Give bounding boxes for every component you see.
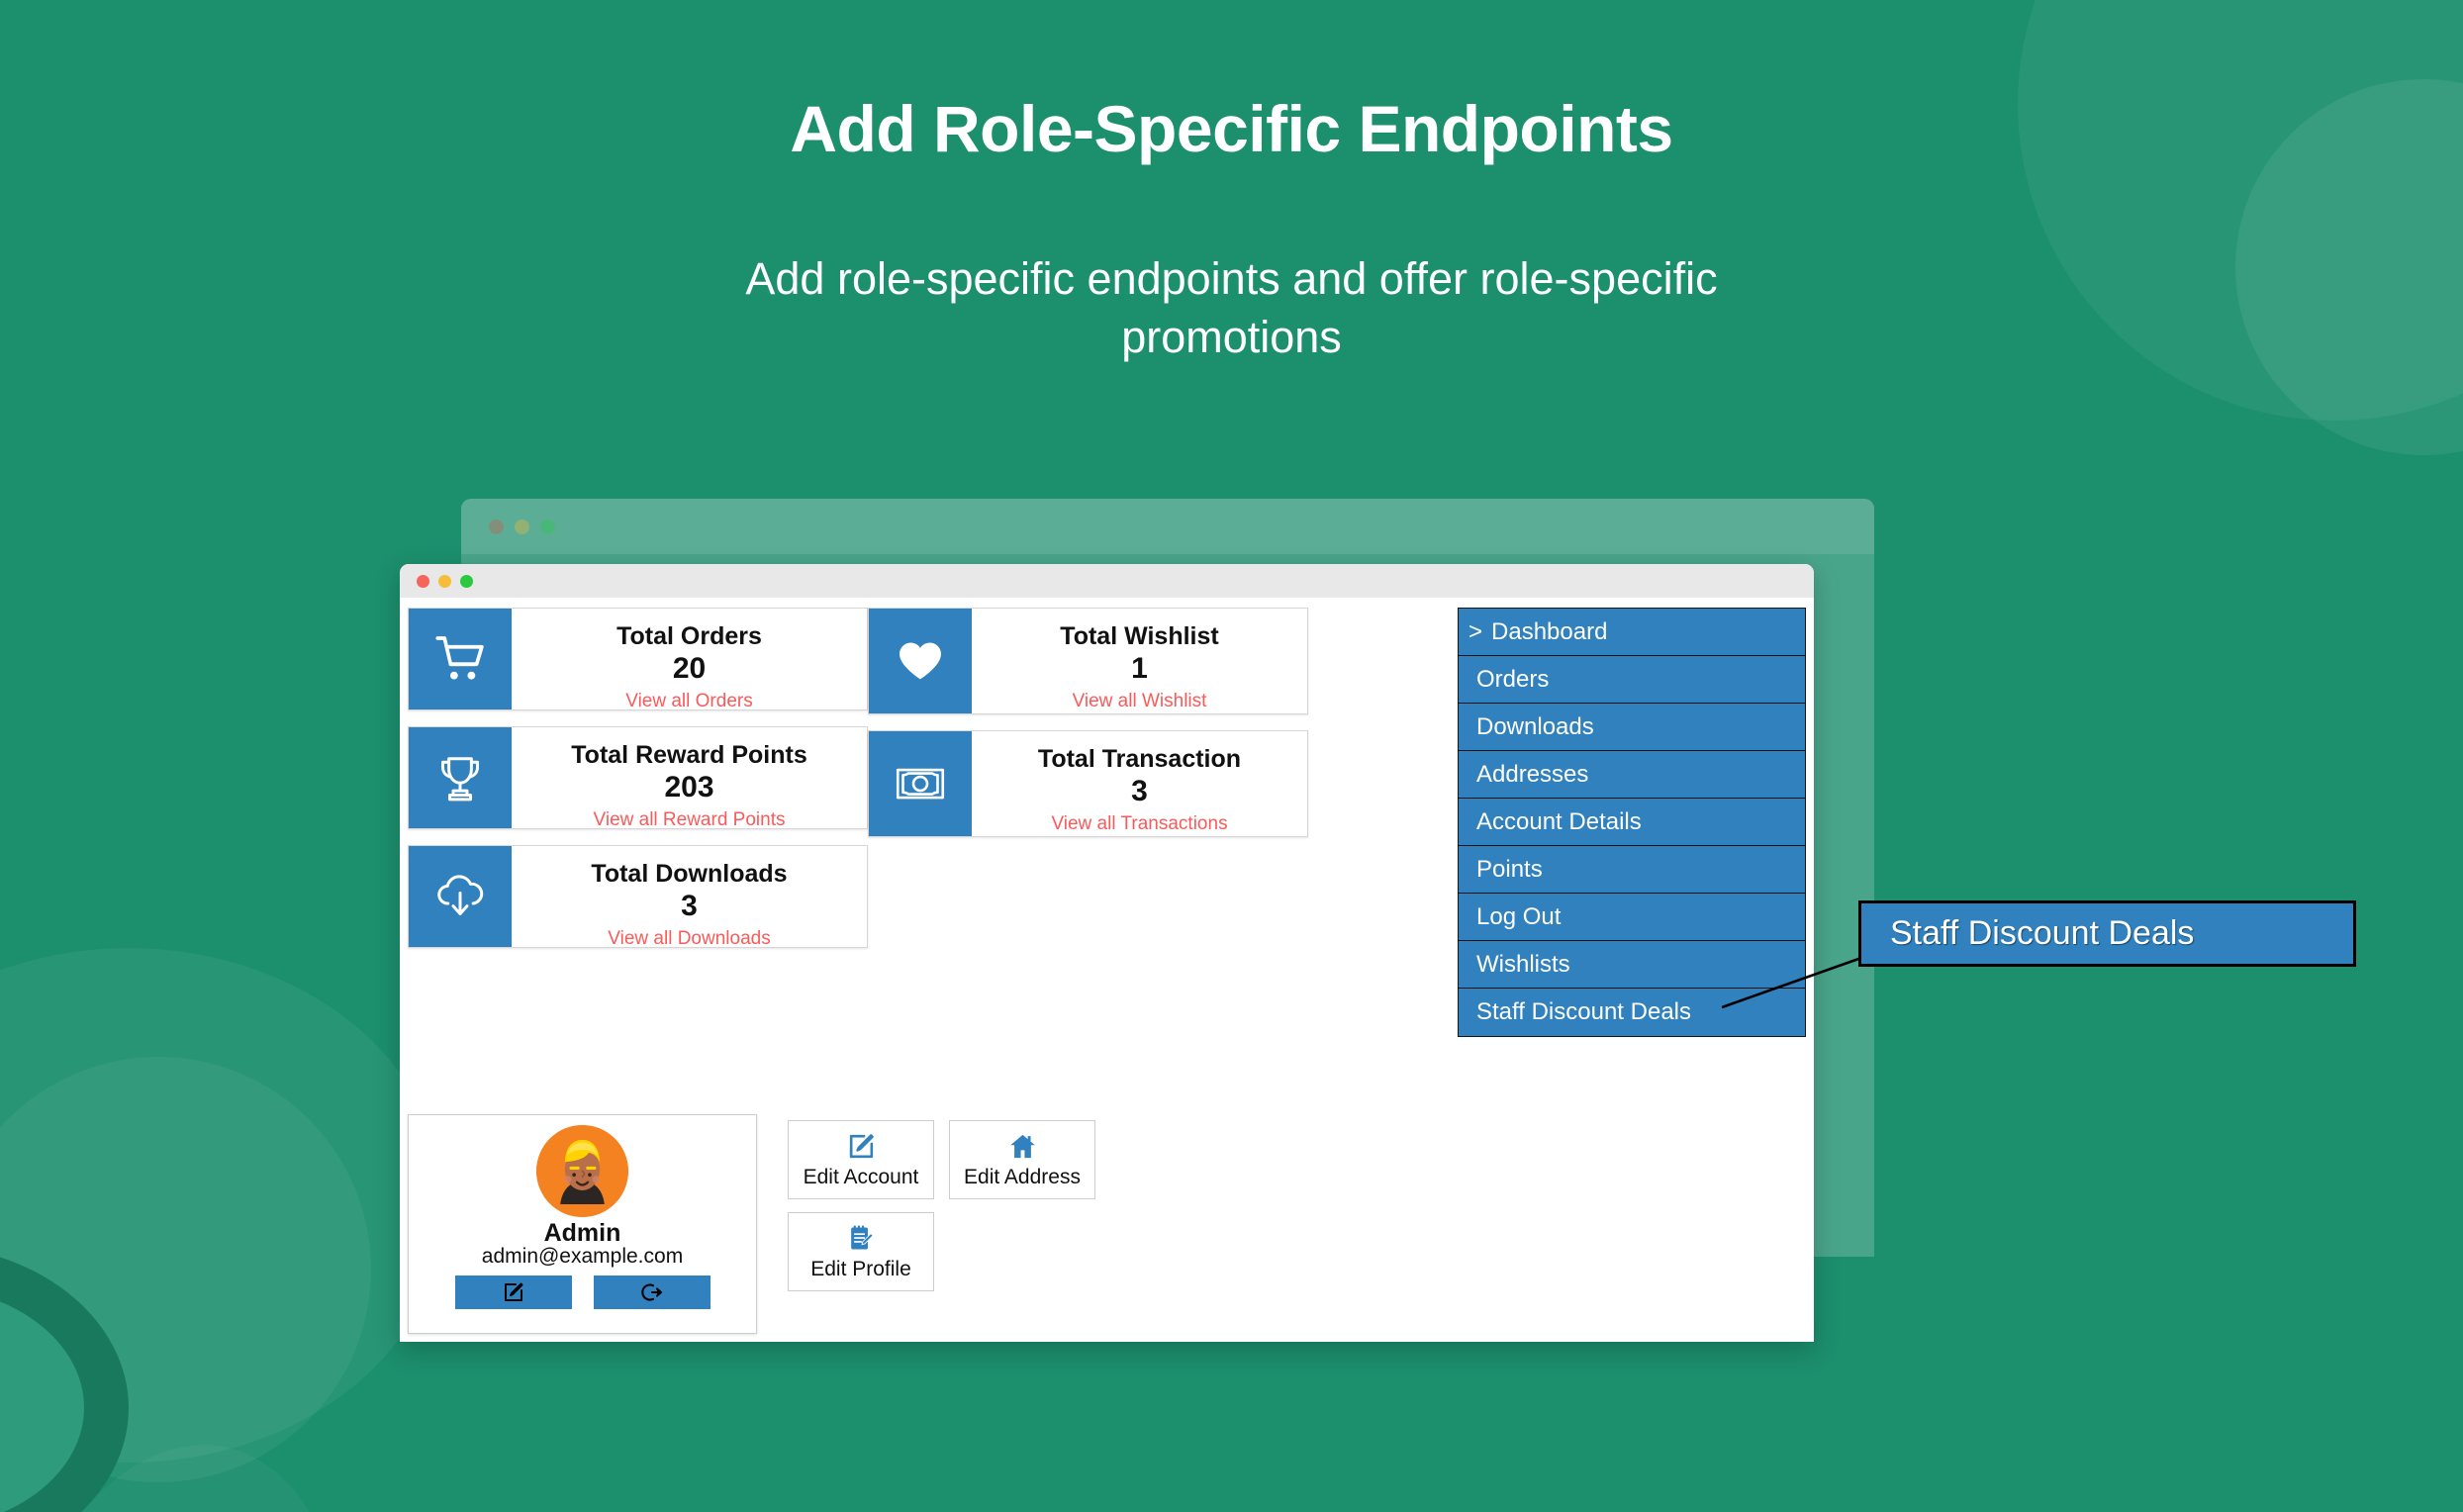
ghost-titlebar — [461, 499, 1874, 554]
stat-value: 203 — [520, 770, 859, 806]
decorative-ring-outer — [0, 1245, 129, 1512]
edit-pencil-icon — [502, 1280, 525, 1304]
stat-title: Total Downloads — [520, 860, 859, 889]
heart-icon — [869, 609, 972, 713]
sidebar-item-downloads[interactable]: Downloads — [1459, 704, 1805, 751]
callout-staff-discount-deals: Staff Discount Deals — [1858, 900, 2356, 967]
sidebar-item-account-details[interactable]: Account Details — [1459, 799, 1805, 846]
sidebar-item-label: Dashboard — [1491, 618, 1607, 646]
decorative-circle-top-right-large — [2018, 0, 2463, 421]
stat-value: 3 — [520, 889, 859, 925]
user-profile-card: Admin admin@example.com — [408, 1114, 757, 1334]
sidebar-item-label: Downloads — [1476, 713, 1594, 741]
page-subtitle: Add role-specific endpoints and offer ro… — [648, 249, 1816, 367]
stat-card-meta: Total Downloads 3 View all Downloads — [512, 846, 867, 947]
profile-buttons — [409, 1276, 756, 1309]
sidebar-item-label: Points — [1476, 856, 1543, 884]
stat-link-view-all-transactions[interactable]: View all Transactions — [1051, 813, 1227, 835]
avatar — [536, 1125, 628, 1217]
edit-account-button[interactable]: Edit Account — [788, 1120, 934, 1199]
cloud-download-icon — [409, 846, 512, 947]
stat-link-view-all-orders[interactable]: View all Orders — [625, 691, 752, 712]
stats-column-left: Total Orders 20 View all Orders — [408, 608, 868, 964]
sidebar-item-addresses[interactable]: Addresses — [1459, 751, 1805, 799]
page-title: Add Role-Specific Endpoints — [0, 91, 2463, 166]
stat-value: 3 — [980, 774, 1299, 810]
stat-link-view-all-wishlist[interactable]: View all Wishlist — [1073, 691, 1207, 712]
ghost-maximize-dot — [540, 520, 555, 534]
account-action-tiles: Edit Account Edit Address — [788, 1120, 1203, 1304]
logout-arrow-icon — [640, 1280, 664, 1304]
sidebar-item-log-out[interactable]: Log Out — [1459, 894, 1805, 941]
minimize-window-dot[interactable] — [438, 575, 451, 588]
close-window-dot[interactable] — [417, 575, 429, 588]
dashboard-body: Total Orders 20 View all Orders — [400, 598, 1814, 1342]
sidebar-item-label: Orders — [1476, 666, 1549, 694]
stat-card-total-transaction[interactable]: Total Transaction 3 View all Transaction… — [868, 730, 1308, 837]
stat-value: 1 — [980, 651, 1299, 688]
stat-value: 20 — [520, 651, 859, 688]
edit-profile-button[interactable] — [455, 1276, 572, 1309]
stat-card-total-downloads[interactable]: Total Downloads 3 View all Downloads — [408, 845, 868, 948]
stat-card-total-orders[interactable]: Total Orders 20 View all Orders — [408, 608, 868, 710]
stats-column-right: Total Wishlist 1 View all Wishlist — [868, 608, 1308, 964]
stat-card-total-wishlist[interactable]: Total Wishlist 1 View all Wishlist — [868, 608, 1308, 714]
action-row: Edit Account Edit Address — [788, 1120, 1203, 1199]
sidebar-item-label: Wishlists — [1476, 951, 1570, 979]
stat-title: Total Reward Points — [520, 741, 859, 770]
window-titlebar — [400, 564, 1814, 598]
edit-address-button[interactable]: Edit Address — [949, 1120, 1095, 1199]
stats-grid: Total Orders 20 View all Orders — [408, 608, 1308, 964]
decorative-blob-1 — [0, 948, 445, 1463]
edit-profile-tile-button[interactable]: Edit Profile — [788, 1212, 934, 1291]
ghost-close-dot — [489, 520, 504, 534]
stat-card-meta: Total Transaction 3 View all Transaction… — [972, 731, 1307, 836]
decorative-blob-2 — [0, 1057, 371, 1482]
trophy-icon — [409, 727, 512, 828]
sidebar-item-label: Account Details — [1476, 808, 1642, 836]
stat-card-meta: Total Orders 20 View all Orders — [512, 609, 867, 709]
decorative-tail — [0, 1413, 386, 1512]
page-root: Add Role-Specific Endpoints Add role-spe… — [0, 0, 2463, 1512]
sidebar-item-label: Addresses — [1476, 761, 1588, 789]
logout-button[interactable] — [594, 1276, 710, 1309]
action-row: Edit Profile — [788, 1212, 1203, 1291]
callout-leader-line — [1722, 950, 1880, 1011]
sidebar-item-orders[interactable]: Orders — [1459, 656, 1805, 704]
sidebar-item-points[interactable]: Points — [1459, 846, 1805, 894]
banknote-icon — [869, 731, 972, 836]
ghost-minimize-dot — [515, 520, 529, 534]
maximize-window-dot[interactable] — [460, 575, 473, 588]
sidebar-item-label: Log Out — [1476, 903, 1561, 931]
stat-title: Total Wishlist — [980, 622, 1299, 651]
stat-card-meta: Total Reward Points 203 View all Reward … — [512, 727, 867, 828]
sidebar-item-dashboard[interactable]: > Dashboard — [1459, 609, 1805, 656]
decorative-ring-inner — [0, 1286, 84, 1512]
stat-link-view-all-reward-points[interactable]: View all Reward Points — [594, 809, 786, 831]
stat-link-view-all-downloads[interactable]: View all Downloads — [608, 928, 770, 950]
shopping-cart-icon — [409, 609, 512, 709]
stat-title: Total Orders — [520, 622, 859, 651]
action-label: Edit Profile — [810, 1258, 911, 1281]
edit-pencil-icon — [846, 1131, 877, 1162]
home-icon — [1007, 1131, 1038, 1162]
browser-window: Total Orders 20 View all Orders — [400, 564, 1814, 1342]
chevron-right-icon: > — [1468, 618, 1482, 646]
stat-title: Total Transaction — [980, 745, 1299, 774]
profile-name: Admin — [409, 1219, 756, 1248]
action-label: Edit Address — [964, 1166, 1081, 1189]
stat-card-total-reward-points[interactable]: Total Reward Points 203 View all Reward … — [408, 726, 868, 829]
action-label: Edit Account — [804, 1166, 919, 1189]
stat-card-meta: Total Wishlist 1 View all Wishlist — [972, 609, 1307, 713]
profile-email: admin@example.com — [409, 1245, 756, 1269]
sidebar-item-label: Staff Discount Deals — [1476, 998, 1691, 1026]
callout-label: Staff Discount Deals — [1890, 914, 2194, 953]
notepad-pencil-icon — [846, 1223, 877, 1254]
